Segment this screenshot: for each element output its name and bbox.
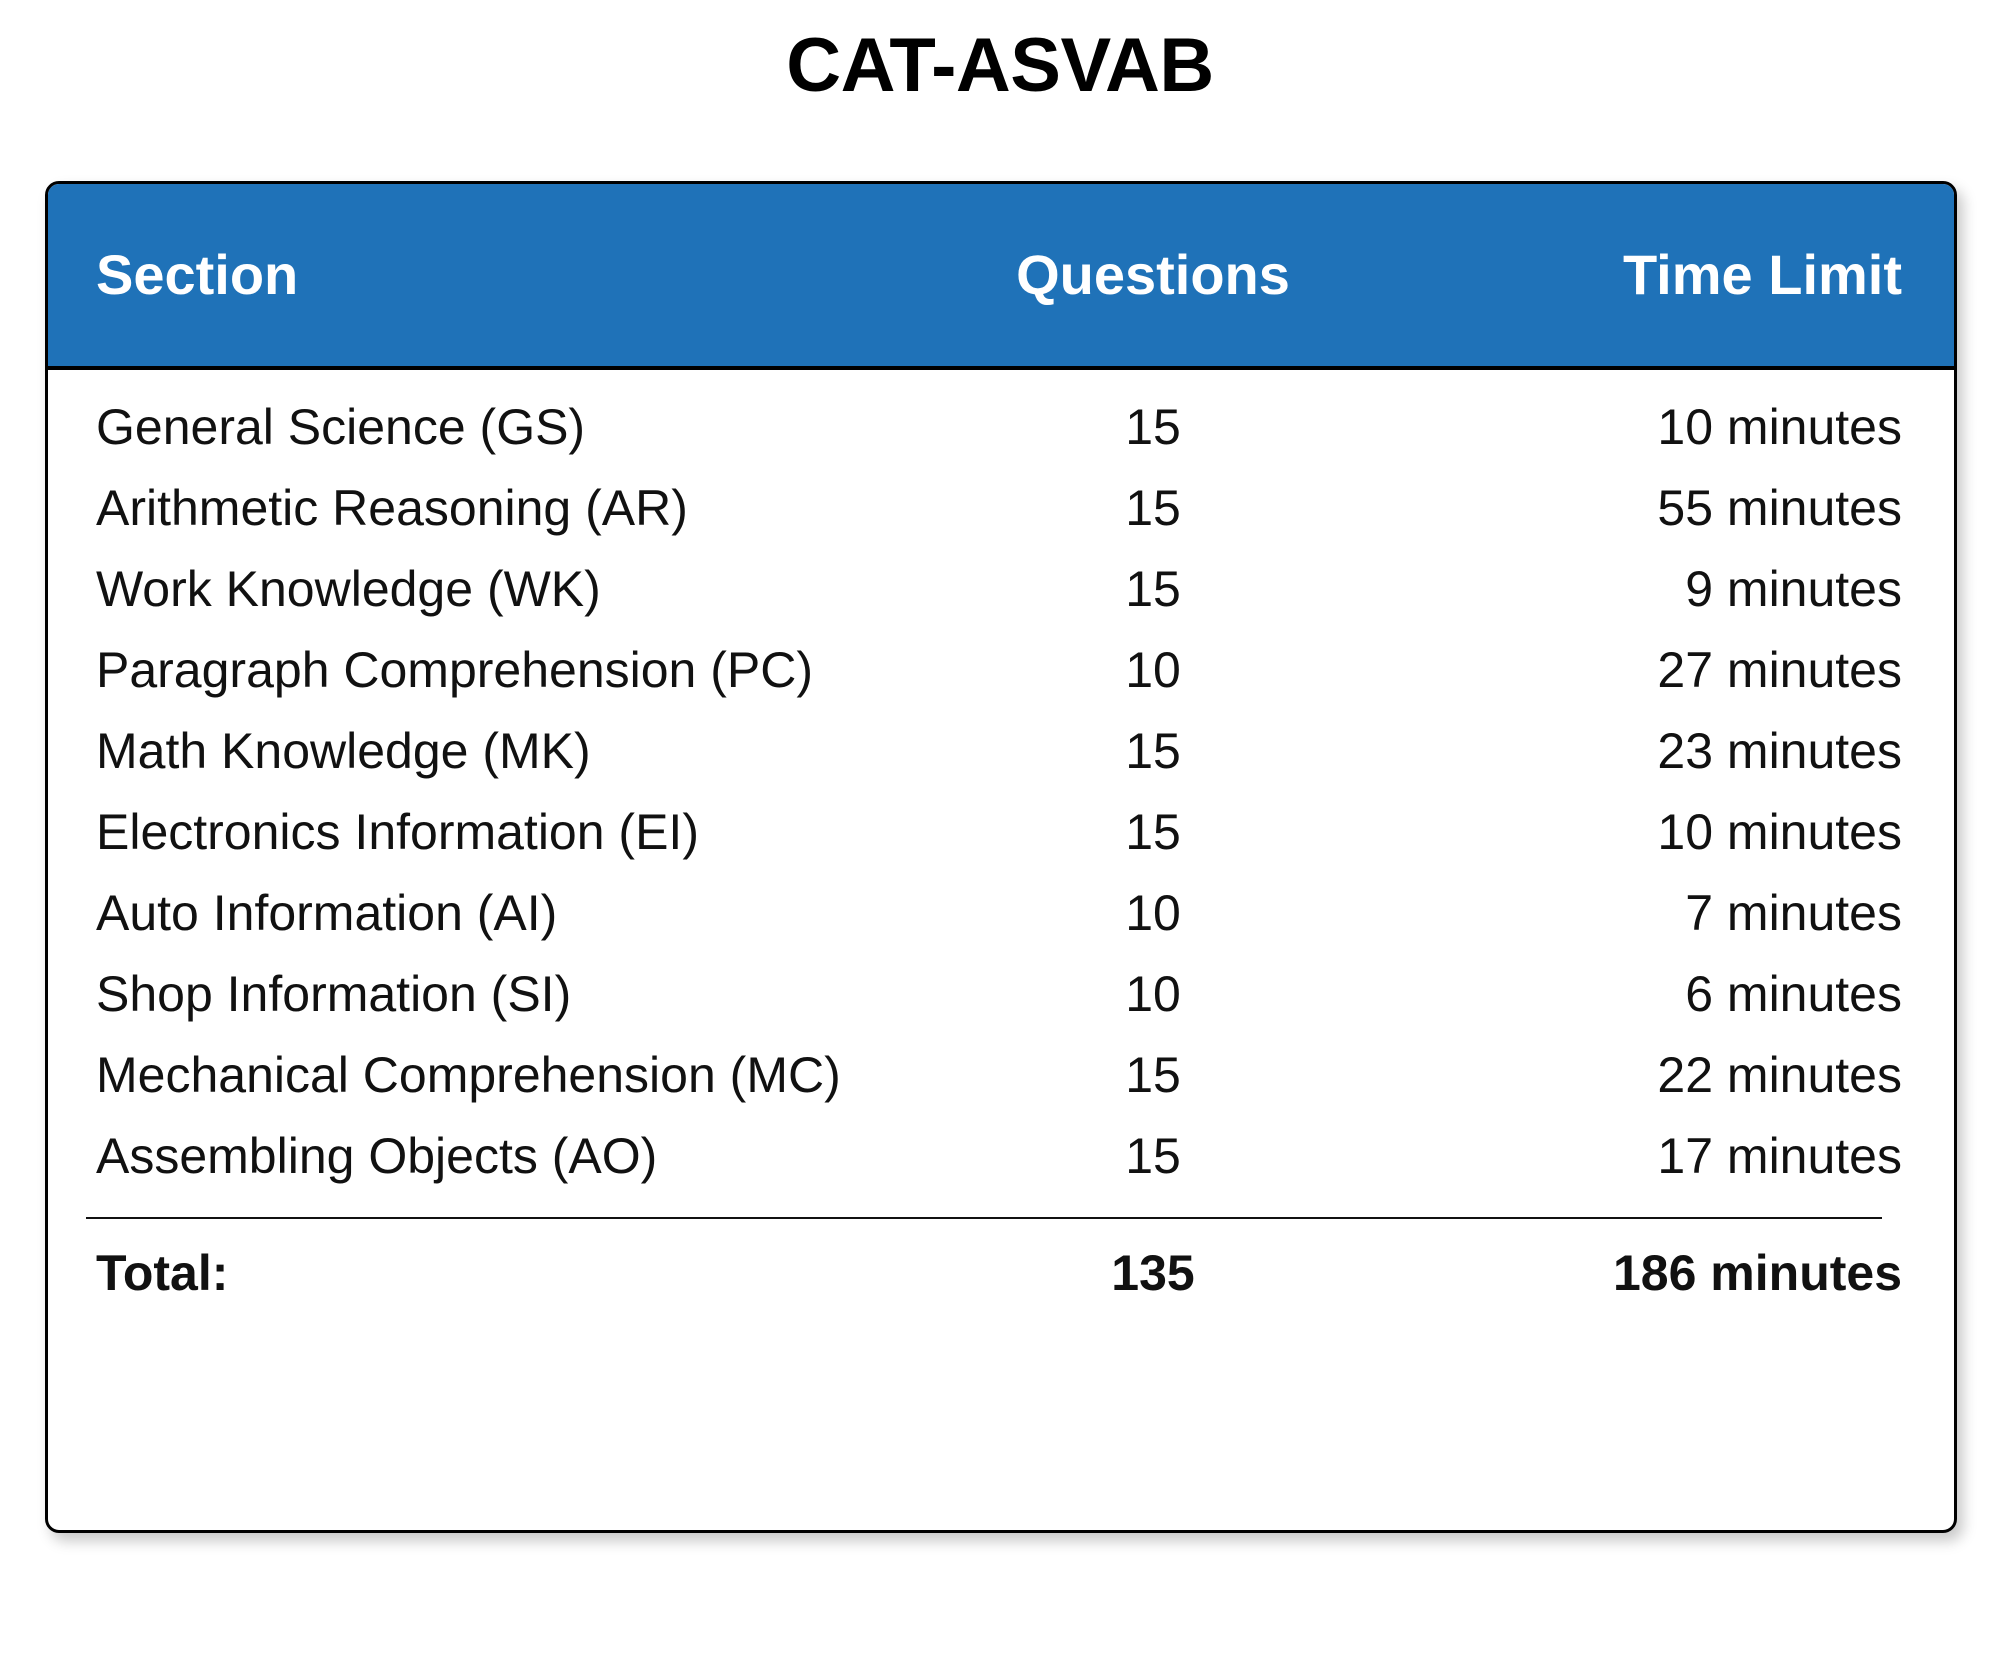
total-divider <box>86 1217 1882 1219</box>
cell-time-limit: 55 minutes <box>1318 483 1954 533</box>
cell-section: Shop Information (SI) <box>48 969 988 1019</box>
cell-section: Mechanical Comprehension (MC) <box>48 1050 988 1100</box>
table-row: Shop Information (SI) 10 6 minutes <box>48 953 1954 1034</box>
cell-time-limit: 17 minutes <box>1318 1131 1954 1181</box>
cell-questions: 15 <box>988 1050 1318 1100</box>
table-row: Paragraph Comprehension (PC) 10 27 minut… <box>48 629 1954 710</box>
cell-time-limit: 6 minutes <box>1318 969 1954 1019</box>
table-row: Arithmetic Reasoning (AR) 15 55 minutes <box>48 467 1954 548</box>
total-label: Total: <box>48 1248 988 1298</box>
total-questions: 135 <box>988 1248 1318 1298</box>
table-row: General Science (GS) 15 10 minutes <box>48 386 1954 467</box>
cell-section: Arithmetic Reasoning (AR) <box>48 483 988 533</box>
cell-section: Paragraph Comprehension (PC) <box>48 645 988 695</box>
table-row: Math Knowledge (MK) 15 23 minutes <box>48 710 1954 791</box>
cell-section: Assembling Objects (AO) <box>48 1131 988 1181</box>
cell-questions: 15 <box>988 726 1318 776</box>
cell-time-limit: 22 minutes <box>1318 1050 1954 1100</box>
column-header-section[interactable]: Section <box>48 247 988 303</box>
cell-questions: 15 <box>988 402 1318 452</box>
table-row: Mechanical Comprehension (MC) 15 22 minu… <box>48 1034 1954 1115</box>
table-row: Electronics Information (EI) 15 10 minut… <box>48 791 1954 872</box>
cell-questions: 10 <box>988 969 1318 1019</box>
cell-time-limit: 23 minutes <box>1318 726 1954 776</box>
table-header: Section Questions Time Limit <box>48 184 1954 370</box>
cell-questions: 15 <box>988 564 1318 614</box>
table-row: Auto Information (AI) 10 7 minutes <box>48 872 1954 953</box>
page-title: CAT-ASVAB <box>0 28 2000 104</box>
page-root: CAT-ASVAB Section Questions Time Limit G… <box>0 0 2000 1665</box>
cell-time-limit: 10 minutes <box>1318 402 1954 452</box>
cell-section: General Science (GS) <box>48 402 988 452</box>
cell-time-limit: 10 minutes <box>1318 807 1954 857</box>
table-row: Assembling Objects (AO) 15 17 minutes <box>48 1115 1954 1196</box>
cell-time-limit: 7 minutes <box>1318 888 1954 938</box>
cell-section: Electronics Information (EI) <box>48 807 988 857</box>
cell-section: Auto Information (AI) <box>48 888 988 938</box>
table-header-row: Section Questions Time Limit <box>48 184 1954 366</box>
cell-questions: 15 <box>988 807 1318 857</box>
total-time-limit: 186 minutes <box>1318 1248 1954 1298</box>
column-header-questions[interactable]: Questions <box>988 247 1318 303</box>
cell-time-limit: 9 minutes <box>1318 564 1954 614</box>
cell-questions: 15 <box>988 483 1318 533</box>
cell-section: Math Knowledge (MK) <box>48 726 988 776</box>
cell-time-limit: 27 minutes <box>1318 645 1954 695</box>
asvab-table-card: Section Questions Time Limit General Sci… <box>45 181 1957 1533</box>
cell-questions: 10 <box>988 888 1318 938</box>
cell-questions: 10 <box>988 645 1318 695</box>
table-body: General Science (GS) 15 10 minutes Arith… <box>48 370 1954 1321</box>
cell-section: Work Knowledge (WK) <box>48 564 988 614</box>
cell-questions: 15 <box>988 1131 1318 1181</box>
table-row: Work Knowledge (WK) 15 9 minutes <box>48 548 1954 629</box>
column-header-time-limit[interactable]: Time Limit <box>1318 247 1954 303</box>
table-total-row: Total: 135 186 minutes <box>48 1225 1954 1321</box>
